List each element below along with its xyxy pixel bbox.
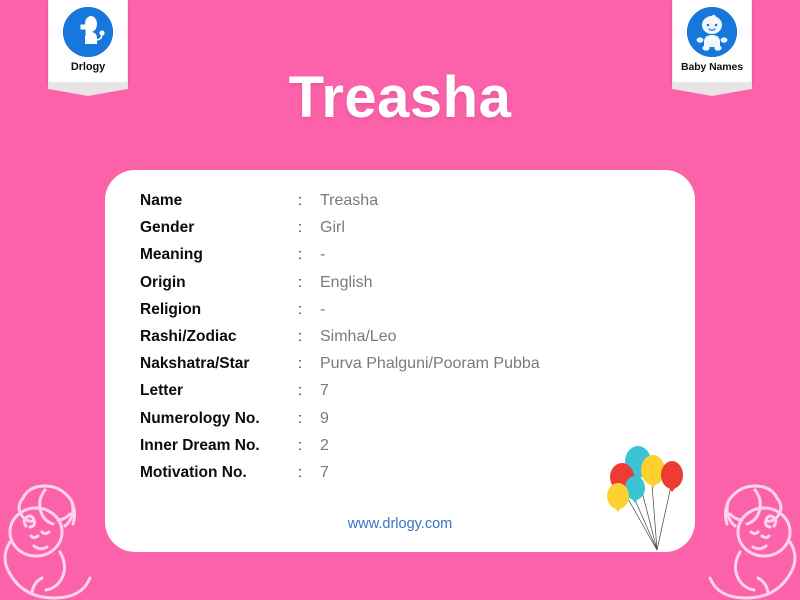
brand-badge-drlogy[interactable]: Drlogy xyxy=(48,0,128,96)
row-separator: : xyxy=(298,274,320,291)
row-label: Origin xyxy=(140,274,298,292)
row-label: Letter xyxy=(140,382,298,400)
website-url-link[interactable]: www.drlogy.com xyxy=(105,516,695,532)
table-row: Gender : Girl xyxy=(140,219,680,246)
row-separator: : xyxy=(298,355,320,372)
badge-body: Drlogy xyxy=(48,0,128,83)
table-row: Origin : English xyxy=(140,274,680,301)
row-value: 9 xyxy=(320,410,329,428)
row-separator: : xyxy=(298,437,320,454)
row-value: Purva Phalguni/Pooram Pubba xyxy=(320,355,540,373)
table-row: Letter : 7 xyxy=(140,382,680,409)
row-separator: : xyxy=(298,382,320,399)
row-separator: : xyxy=(298,192,320,209)
row-separator: : xyxy=(298,301,320,318)
row-label: Rashi/Zodiac xyxy=(140,328,298,346)
row-value: Treasha xyxy=(320,192,378,210)
row-label: Motivation No. xyxy=(140,464,298,482)
row-label: Nakshatra/Star xyxy=(140,355,298,373)
row-separator: : xyxy=(298,464,320,481)
row-value: - xyxy=(320,246,325,264)
row-label: Name xyxy=(140,192,298,210)
row-separator: : xyxy=(298,328,320,345)
badge-ribbon-flap xyxy=(672,83,752,96)
row-label: Gender xyxy=(140,219,298,237)
brand-badge-baby-names[interactable]: Baby Names xyxy=(672,0,752,96)
badge-label-baby-names: Baby Names xyxy=(681,61,743,73)
row-label: Meaning xyxy=(140,246,298,264)
table-row: Religion : - xyxy=(140,301,680,328)
row-label: Religion xyxy=(140,301,298,319)
row-value: English xyxy=(320,274,372,292)
table-row: Nakshatra/Star : Purva Phalguni/Pooram P… xyxy=(140,355,680,382)
badge-label-drlogy: Drlogy xyxy=(71,61,105,73)
name-details-card: Name : Treasha Gender : Girl Meaning : -… xyxy=(105,170,695,552)
name-details-table: Name : Treasha Gender : Girl Meaning : -… xyxy=(140,192,680,491)
row-value: - xyxy=(320,301,325,319)
row-separator: : xyxy=(298,246,320,263)
row-value: Girl xyxy=(320,219,345,237)
table-row: Inner Dream No. : 2 xyxy=(140,437,680,464)
badge-ribbon-flap xyxy=(48,83,128,96)
doctor-stethoscope-cross-icon xyxy=(63,7,113,57)
table-row: Name : Treasha xyxy=(140,192,680,219)
table-row: Numerology No. : 9 xyxy=(140,410,680,437)
mother-baby-line-art-icon-right xyxy=(697,470,800,600)
table-row: Rashi/Zodiac : Simha/Leo xyxy=(140,328,680,355)
row-separator: : xyxy=(298,410,320,427)
row-value: 7 xyxy=(320,464,329,482)
row-label: Numerology No. xyxy=(140,410,298,428)
name-card-poster: Drlogy Baby Name xyxy=(0,0,800,600)
row-label: Inner Dream No. xyxy=(140,437,298,455)
mother-baby-line-art-icon-left xyxy=(0,470,103,600)
baby-icon xyxy=(687,7,737,57)
row-value: 2 xyxy=(320,437,329,455)
row-value: 7 xyxy=(320,382,329,400)
badge-body: Baby Names xyxy=(672,0,752,83)
table-row: Motivation No. : 7 xyxy=(140,464,680,491)
row-separator: : xyxy=(298,219,320,236)
table-row: Meaning : - xyxy=(140,246,680,273)
row-value: Simha/Leo xyxy=(320,328,397,346)
